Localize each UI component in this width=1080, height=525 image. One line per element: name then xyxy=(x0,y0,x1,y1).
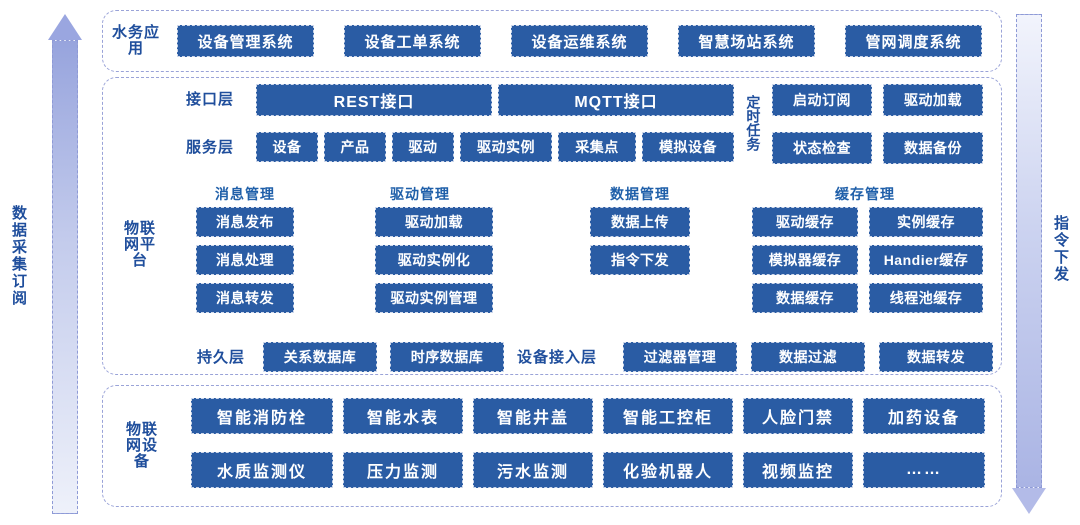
left-arrow-label: 数据采集订阅 xyxy=(8,205,29,307)
device-box-r2-0[interactable]: 水质监测仪 xyxy=(191,452,333,488)
interface-layer-label: 接口层 xyxy=(186,88,234,109)
app-box-4[interactable]: 管网调度系统 xyxy=(845,25,982,57)
device-box-r1-4[interactable]: 人脸门禁 xyxy=(743,398,853,434)
persistence-layer-label: 持久层 xyxy=(197,346,245,367)
device-access-box-0[interactable]: 过滤器管理 xyxy=(623,342,737,372)
driver-box-2[interactable]: 驱动实例管理 xyxy=(375,283,493,313)
persistence-box-1[interactable]: 时序数据库 xyxy=(390,342,504,372)
app-box-0[interactable]: 设备管理系统 xyxy=(177,25,314,57)
arrow-up-shaft xyxy=(52,40,78,514)
service-box-2[interactable]: 驱动 xyxy=(392,132,454,162)
data-collection-subscription-arrow xyxy=(48,14,82,514)
device-box-r1-5[interactable]: 加药设备 xyxy=(863,398,985,434)
interface-box-1[interactable]: MQTT接口 xyxy=(498,84,734,116)
message-box-2[interactable]: 消息转发 xyxy=(196,283,294,313)
device-box-r1-1[interactable]: 智能水表 xyxy=(343,398,463,434)
app-box-1[interactable]: 设备工单系统 xyxy=(344,25,481,57)
driver-box-1[interactable]: 驱动实例化 xyxy=(375,245,493,275)
service-layer-label: 服务层 xyxy=(186,136,234,157)
right-arrow-label: 指令下发 xyxy=(1050,215,1071,283)
device-box-r2-4[interactable]: 视频监控 xyxy=(743,452,853,488)
service-box-5[interactable]: 模拟设备 xyxy=(642,132,734,162)
device-box-r2-5[interactable]: …… xyxy=(863,452,985,488)
cache-box-left-2[interactable]: 数据缓存 xyxy=(752,283,858,313)
scheduled-task-box-1[interactable]: 驱动加载 xyxy=(883,84,983,116)
scheduled-task-box-0[interactable]: 启动订阅 xyxy=(772,84,872,116)
command-dispatch-arrow xyxy=(1012,14,1046,514)
service-box-1[interactable]: 产品 xyxy=(324,132,386,162)
section-title-message-management: 消息管理 xyxy=(180,184,310,204)
iot-platform-label: 物联网平台 xyxy=(120,180,160,310)
scheduled-task-box-2[interactable]: 状态检查 xyxy=(772,132,872,164)
application-layer-label: 水务应用 xyxy=(112,16,160,66)
section-title-driver-management: 驱动管理 xyxy=(330,184,510,204)
app-box-2[interactable]: 设备运维系统 xyxy=(511,25,648,57)
section-title-cache-management: 缓存管理 xyxy=(790,184,940,204)
service-box-4[interactable]: 采集点 xyxy=(558,132,636,162)
app-box-3[interactable]: 智慧场站系统 xyxy=(678,25,815,57)
cache-box-left-0[interactable]: 驱动缓存 xyxy=(752,207,858,237)
persistence-box-0[interactable]: 关系数据库 xyxy=(263,342,377,372)
iot-device-label: 物联网设备 xyxy=(122,392,162,500)
device-access-layer-label: 设备接入层 xyxy=(517,346,597,367)
arrow-up-head xyxy=(48,14,82,40)
arrow-down-shaft xyxy=(1016,14,1042,488)
device-box-r1-3[interactable]: 智能工控柜 xyxy=(603,398,733,434)
message-box-0[interactable]: 消息发布 xyxy=(196,207,294,237)
section-title-data-management: 数据管理 xyxy=(575,184,705,204)
cache-box-right-0[interactable]: 实例缓存 xyxy=(869,207,983,237)
cache-box-right-1[interactable]: Handier缓存 xyxy=(869,245,983,275)
interface-box-0[interactable]: REST接口 xyxy=(256,84,492,116)
data-box-0[interactable]: 数据上传 xyxy=(590,207,690,237)
data-box-1[interactable]: 指令下发 xyxy=(590,245,690,275)
cache-box-left-1[interactable]: 模拟器缓存 xyxy=(752,245,858,275)
scheduled-task-box-3[interactable]: 数据备份 xyxy=(883,132,983,164)
scheduled-tasks-label: 定时任务 xyxy=(742,82,764,164)
device-box-r1-2[interactable]: 智能井盖 xyxy=(473,398,593,434)
service-box-3[interactable]: 驱动实例 xyxy=(460,132,552,162)
architecture-diagram: 数据采集订阅 指令下发 水务应用 设备管理系统 设备工单系统 设备运维系统 智慧… xyxy=(0,0,1080,525)
device-box-r2-1[interactable]: 压力监测 xyxy=(343,452,463,488)
device-access-box-1[interactable]: 数据过滤 xyxy=(751,342,865,372)
service-box-0[interactable]: 设备 xyxy=(256,132,318,162)
cache-box-right-2[interactable]: 线程池缓存 xyxy=(869,283,983,313)
message-box-1[interactable]: 消息处理 xyxy=(196,245,294,275)
device-box-r2-2[interactable]: 污水监测 xyxy=(473,452,593,488)
arrow-down-head xyxy=(1012,488,1046,514)
driver-box-0[interactable]: 驱动加载 xyxy=(375,207,493,237)
device-box-r2-3[interactable]: 化验机器人 xyxy=(603,452,733,488)
device-access-box-2[interactable]: 数据转发 xyxy=(879,342,993,372)
device-box-r1-0[interactable]: 智能消防栓 xyxy=(191,398,333,434)
